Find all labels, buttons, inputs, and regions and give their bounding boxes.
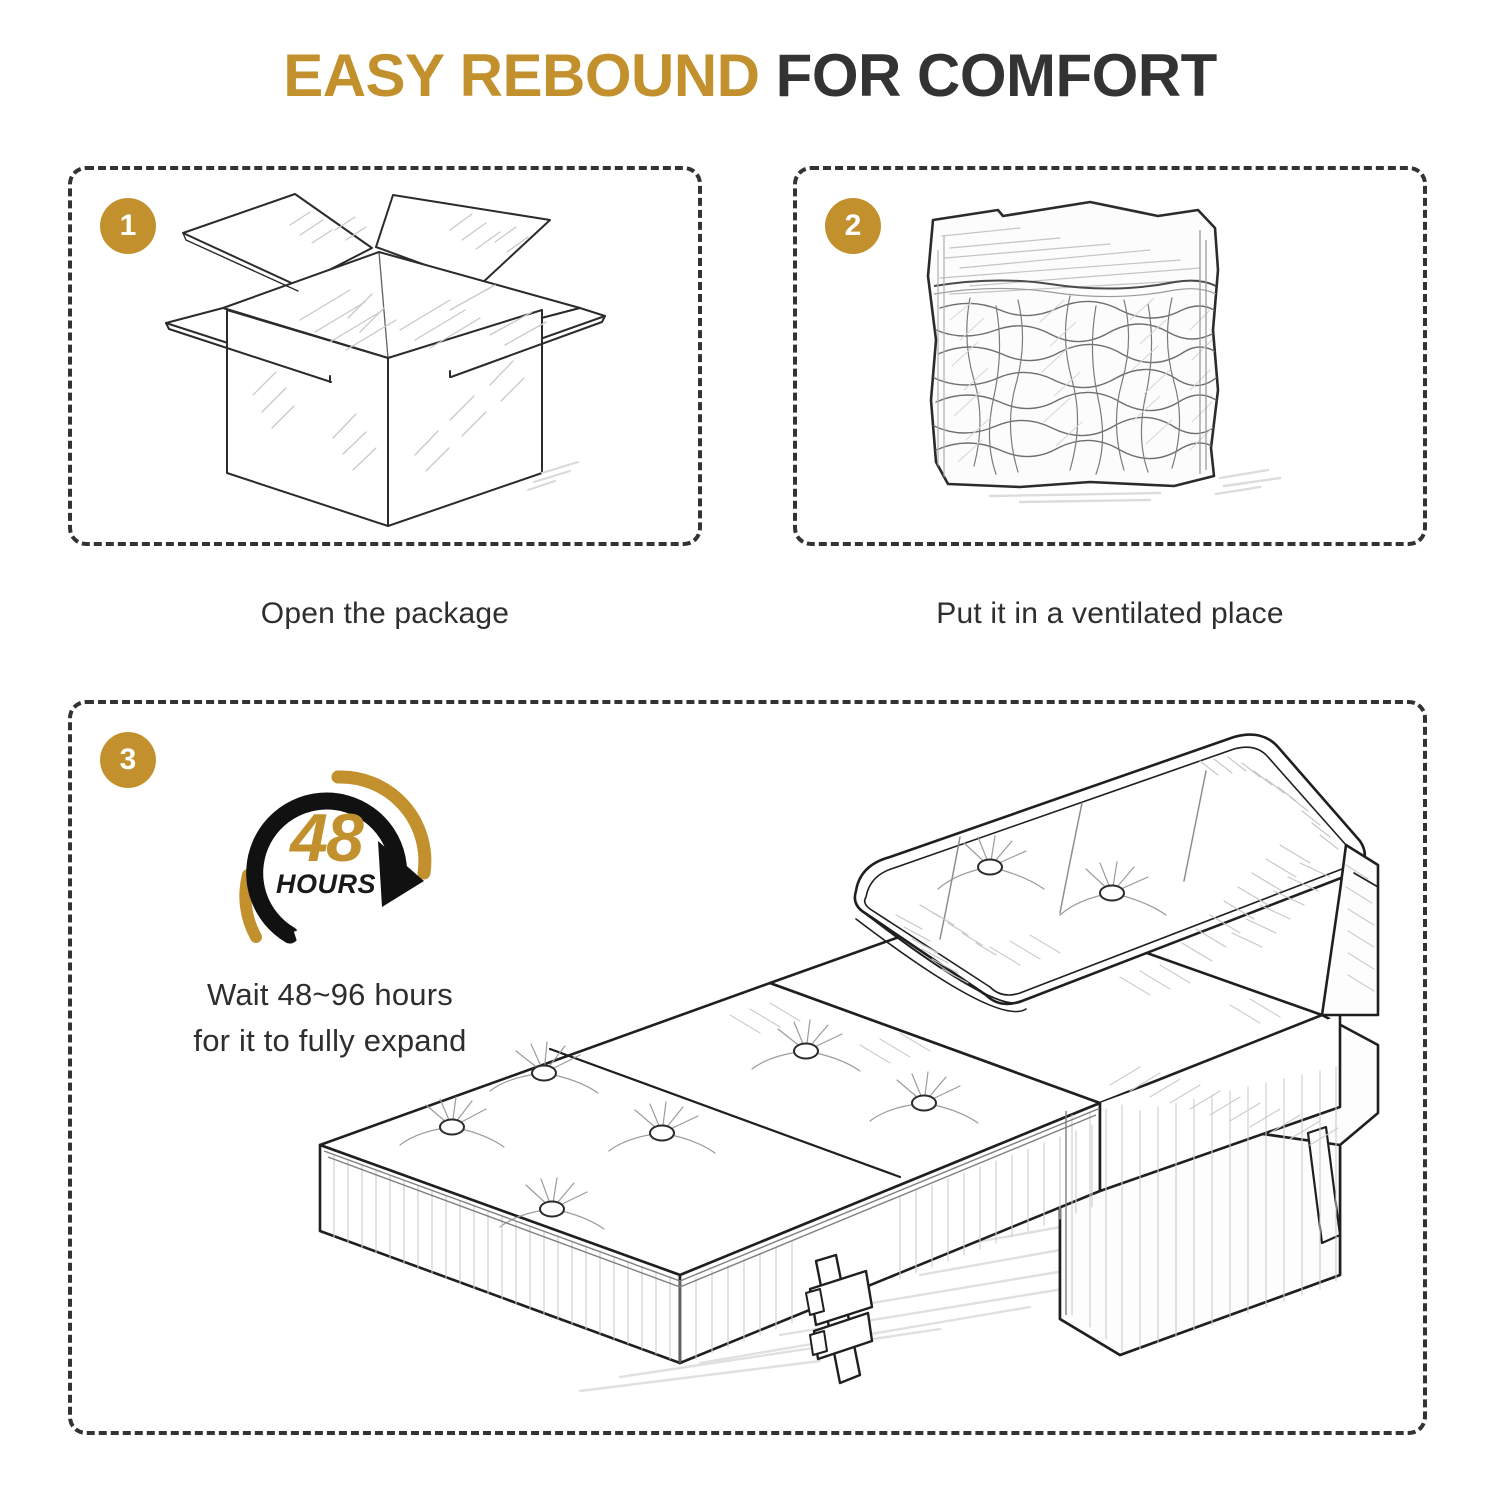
folded-out-sofa-bed-icon	[300, 715, 1390, 1415]
page-title-highlight: EASY REBOUND	[283, 42, 759, 109]
compressed-vacuum-packed-block-icon	[900, 190, 1320, 530]
step-badge-2: 2	[825, 198, 881, 254]
step-caption-2: Put it in a ventilated place	[793, 592, 1427, 636]
step-number-label: 1	[120, 211, 137, 241]
page-title: EASY REBOUND FOR COMFORT	[0, 40, 1500, 112]
step-badge-3: 3	[100, 732, 156, 788]
step-number-label: 3	[120, 745, 137, 775]
page-title-rest: FOR COMFORT	[760, 42, 1217, 109]
step-caption-1: Open the package	[68, 592, 702, 636]
open-cardboard-box-icon	[150, 190, 630, 530]
step-badge-1: 1	[100, 198, 156, 254]
step-number-label: 2	[845, 211, 862, 241]
